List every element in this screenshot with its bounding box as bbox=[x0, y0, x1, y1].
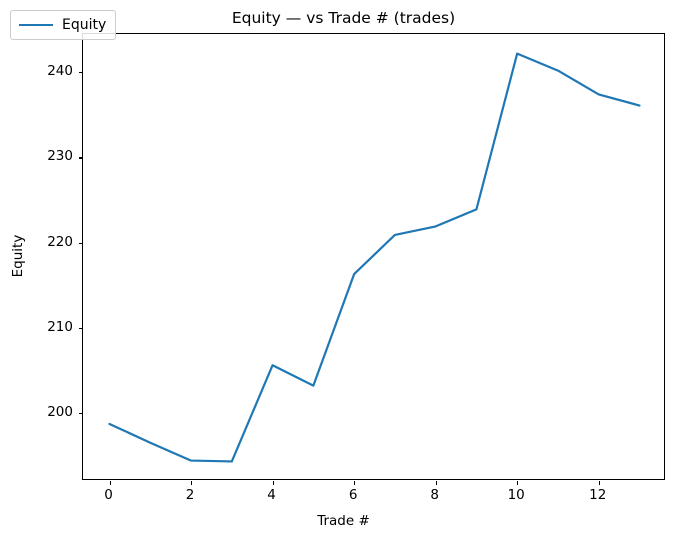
equity-line bbox=[110, 54, 640, 462]
x-tick-mark bbox=[273, 481, 274, 485]
x-tick-mark bbox=[354, 481, 355, 485]
x-tick-mark bbox=[110, 481, 111, 485]
chart-legend[interactable]: Equity bbox=[10, 10, 116, 40]
y-tick-mark bbox=[79, 243, 83, 244]
x-tick-label: 6 bbox=[349, 487, 358, 503]
x-tick-label: 4 bbox=[267, 487, 276, 503]
x-tick-label: 12 bbox=[589, 487, 606, 503]
x-tick-label: 10 bbox=[508, 487, 525, 503]
plot-area bbox=[83, 34, 666, 481]
plot-axes bbox=[82, 33, 665, 480]
legend-line-swatch-equity bbox=[19, 24, 53, 26]
x-tick-mark bbox=[599, 481, 600, 485]
y-tick-mark bbox=[79, 72, 83, 73]
x-tick-mark bbox=[517, 481, 518, 485]
y-tick-label: 210 bbox=[0, 319, 73, 335]
x-axis-label: Trade # bbox=[0, 513, 687, 529]
x-tick-label: 0 bbox=[104, 487, 113, 503]
y-tick-mark bbox=[79, 413, 83, 414]
x-tick-label: 2 bbox=[186, 487, 195, 503]
y-tick-label: 220 bbox=[0, 234, 73, 250]
chart-figure: Equity — vs Trade # (trades) Equity Trad… bbox=[0, 0, 687, 546]
y-tick-label: 240 bbox=[0, 63, 73, 79]
legend-label-equity: Equity bbox=[62, 17, 106, 33]
y-tick-label: 230 bbox=[0, 148, 73, 164]
y-tick-mark bbox=[79, 157, 83, 158]
x-tick-label: 8 bbox=[430, 487, 439, 503]
y-tick-label: 200 bbox=[0, 404, 73, 420]
x-tick-mark bbox=[191, 481, 192, 485]
x-tick-mark bbox=[436, 481, 437, 485]
y-tick-mark bbox=[79, 328, 83, 329]
